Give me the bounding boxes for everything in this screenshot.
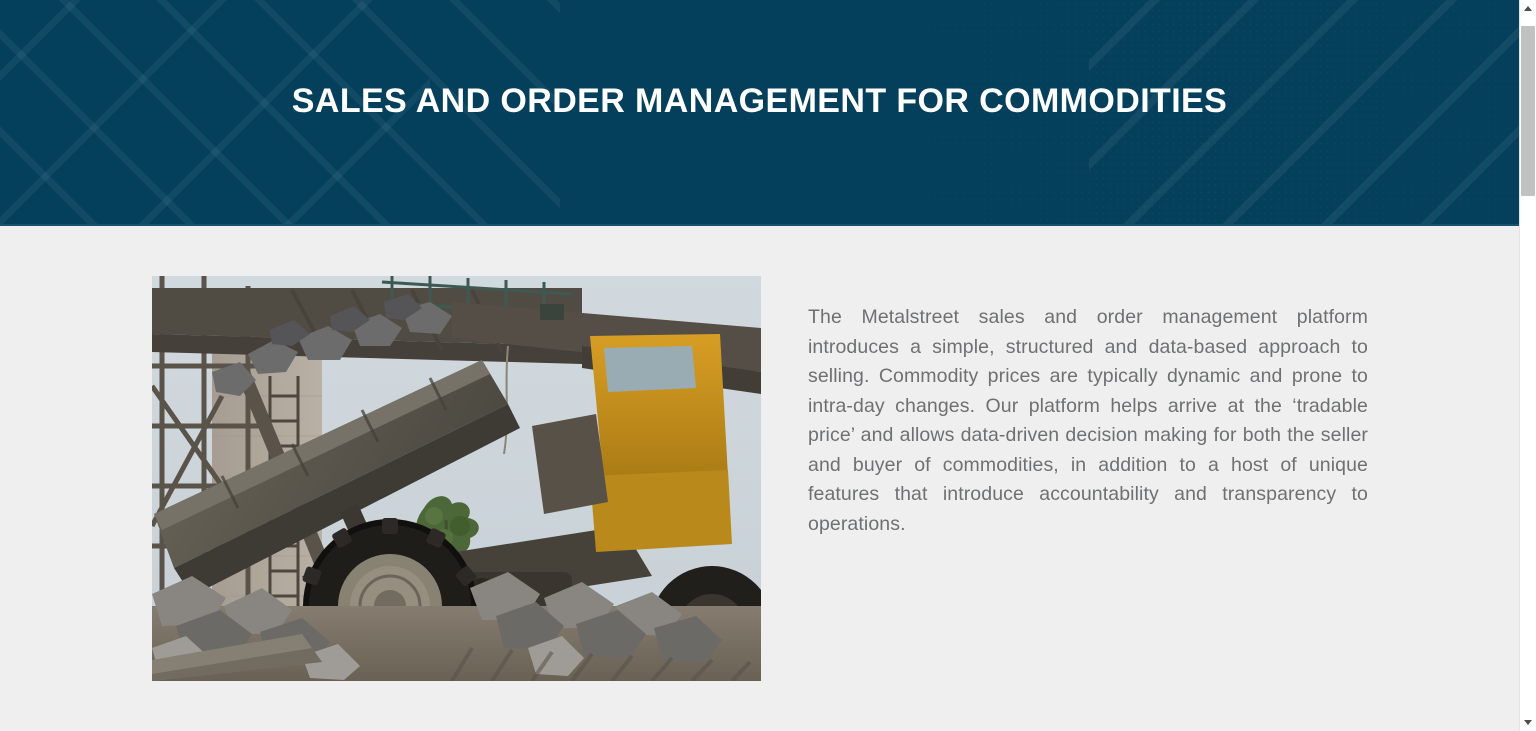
page-title: SALES AND ORDER MANAGEMENT FOR COMMODITI… (0, 75, 1519, 127)
triangle-down-icon (1524, 720, 1532, 725)
scroll-down-button[interactable] (1520, 714, 1536, 731)
intro-paragraph: The Metalstreet sales and order manageme… (808, 303, 1368, 539)
quarry-photo-illustration (152, 276, 761, 681)
content-section: The Metalstreet sales and order manageme… (0, 226, 1519, 731)
vertical-scrollbar[interactable] (1519, 0, 1536, 731)
commodities-quarry-photo (152, 276, 761, 681)
scrollbar-thumb[interactable] (1521, 26, 1535, 196)
page-viewport: SALES AND ORDER MANAGEMENT FOR COMMODITI… (0, 0, 1519, 731)
scroll-up-button[interactable] (1520, 0, 1536, 17)
hero-header: SALES AND ORDER MANAGEMENT FOR COMMODITI… (0, 0, 1519, 226)
intro-copy-block: The Metalstreet sales and order manageme… (808, 303, 1368, 539)
triangle-up-icon (1524, 6, 1532, 11)
